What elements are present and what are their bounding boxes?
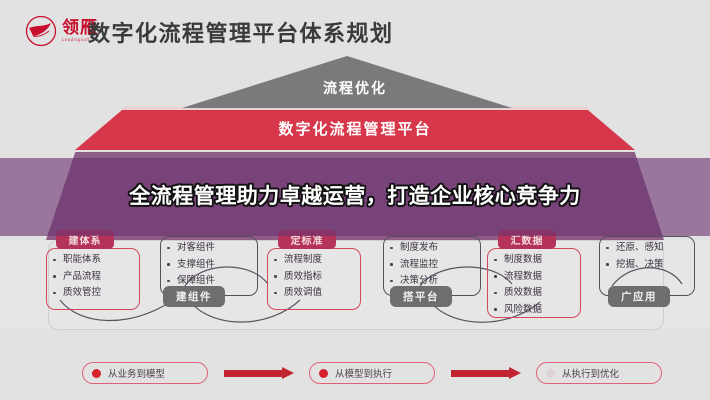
list-item: 流程制度 [268, 255, 360, 265]
list-item: 支撑组件 [161, 260, 257, 270]
flow-arrow-2-icon [451, 367, 521, 379]
list-item: 质效数据 [488, 288, 580, 298]
capability-box-3[interactable]: 流程制度 质效指标 质效调值 [267, 248, 361, 310]
list-item: 流程数据 [488, 272, 580, 282]
flow-step-1-dot [92, 369, 101, 378]
process-flow: 从业务到模型 从模型到执行 从执行到优化 [0, 358, 710, 388]
list-item: 决策分析 [384, 276, 480, 286]
flow-step-3-dot [546, 369, 555, 378]
brand-logo: 领雁 Leadingsoft [24, 14, 98, 48]
flow-step-1-label: 从业务到模型 [108, 366, 165, 380]
infographic-slide: 领雁 Leadingsoft 数字化流程管理平台体系规划 流程优化 数字化流程管… [0, 0, 710, 400]
list-item: 质效调值 [268, 288, 360, 298]
flow-step-2[interactable]: 从模型到执行 [309, 362, 435, 384]
slide-header: 领雁 Leadingsoft 数字化流程管理平台体系规划 [0, 0, 710, 62]
list-item: 挖掘、决策 [600, 260, 694, 270]
list-item: 对客组件 [161, 243, 257, 253]
capability-box-1[interactable]: 职能体系 产品流程 质效管控 [46, 248, 140, 310]
list-item: 流程监控 [384, 260, 480, 270]
capability-tag-4[interactable]: 搭平台 [390, 286, 452, 307]
flow-step-1[interactable]: 从业务到模型 [82, 362, 208, 384]
flow-arrow-1-icon [224, 367, 294, 379]
list-item: 还原、感知 [600, 243, 694, 253]
list-item: 制度数据 [488, 255, 580, 265]
flow-step-3[interactable]: 从执行到优化 [536, 362, 662, 384]
capability-box-1-items: 职能体系 产品流程 质效管控 [47, 249, 139, 298]
goose-logo-icon [24, 14, 58, 48]
capability-tag-6[interactable]: 广应用 [608, 286, 670, 307]
page-title: 数字化流程管理平台体系规划 [88, 16, 394, 48]
pyramid-middle-label: 数字化流程管理平台 [0, 118, 710, 139]
flow-step-2-label: 从模型到执行 [335, 366, 392, 380]
capability-tag-2[interactable]: 建组件 [163, 286, 225, 307]
capability-box-2-items: 对客组件 支撑组件 保障组件 [161, 237, 257, 286]
capability-box-3-items: 流程制度 质效指标 质效调值 [268, 249, 360, 298]
list-item: 制度发布 [384, 243, 480, 253]
pyramid-top-label: 流程优化 [0, 78, 710, 98]
flow-step-2-dot [319, 369, 328, 378]
caption-text: 全流程管理助力卓越运营，打造企业核心竞争力 [0, 158, 710, 236]
list-item: 产品流程 [47, 272, 139, 282]
list-item: 保障组件 [161, 276, 257, 286]
list-item: 质效指标 [268, 272, 360, 282]
list-item: 质效管控 [47, 288, 139, 298]
list-item: 风险数据 [488, 305, 580, 315]
capability-box-6-items: 还原、感知 挖掘、决策 [600, 237, 694, 269]
capability-box-4-items: 制度发布 流程监控 决策分析 [384, 237, 480, 286]
capability-box-5[interactable]: 制度数据 流程数据 质效数据 风险数据 [487, 248, 581, 318]
list-item: 职能体系 [47, 255, 139, 265]
flow-step-3-label: 从执行到优化 [562, 366, 619, 380]
capability-box-5-items: 制度数据 流程数据 质效数据 风险数据 [488, 249, 580, 314]
